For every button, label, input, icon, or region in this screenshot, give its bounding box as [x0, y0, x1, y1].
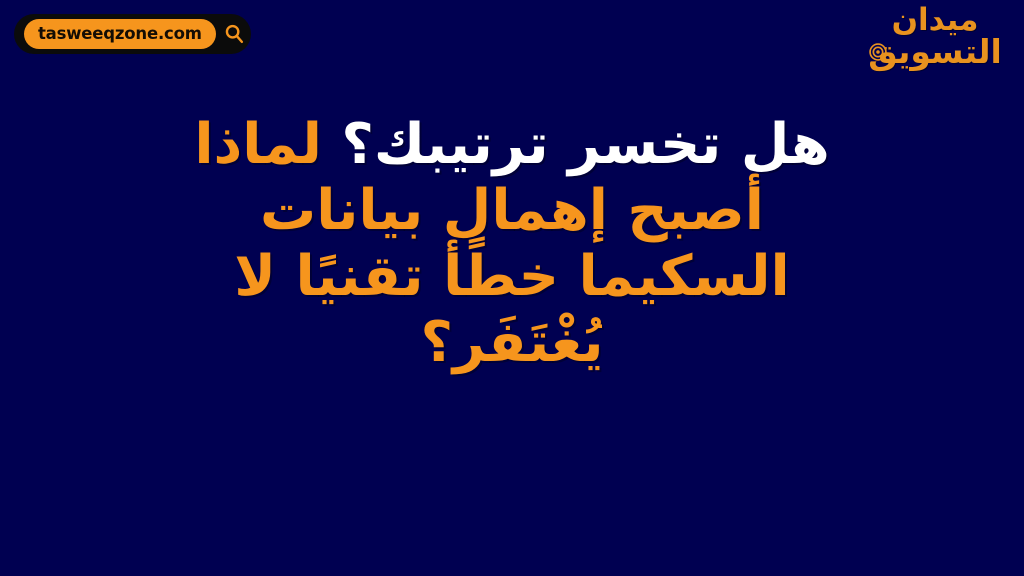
- brand-logo: ميدان التسويق: [860, 6, 1010, 67]
- headline-line-4: يُغْتَفَر؟: [0, 310, 1024, 376]
- headline-line-1-segment-1: هل تخسر ترتيبك؟: [341, 112, 829, 177]
- headline-line-4-segment-1: يُغْتَفَر؟: [420, 310, 603, 375]
- headline-line-1-segment-2: لماذا: [194, 112, 341, 177]
- headline-line-3: السكيما خطًأ تقنيًا لا: [0, 244, 1024, 310]
- spiral-target-icon: [868, 42, 888, 62]
- headline-line-1: هل تخسر ترتيبك؟ لماذا: [0, 112, 1024, 178]
- headline-line-2-segment-1: أصبح إهمال بيانات: [260, 178, 764, 243]
- headline: هل تخسر ترتيبك؟ لماذا أصبح إهمال بيانات …: [0, 112, 1024, 376]
- site-url-text: tasweeqzone.com: [38, 26, 202, 43]
- headline-line-2: أصبح إهمال بيانات: [0, 178, 1024, 244]
- headline-line-3-segment-1: السكيما خطًأ تقنيًا لا: [234, 244, 789, 309]
- search-icon: [223, 23, 245, 45]
- site-url-pill: tasweeqzone.com: [24, 19, 216, 49]
- brand-logo-line-2-wrap: التسويق: [860, 36, 1010, 68]
- brand-logo-line-2-text: التسويق: [868, 32, 1002, 71]
- banner-canvas: tasweeqzone.com ميدان التسويق هل تخسر تر…: [0, 0, 1024, 576]
- site-url-badge[interactable]: tasweeqzone.com: [14, 14, 251, 54]
